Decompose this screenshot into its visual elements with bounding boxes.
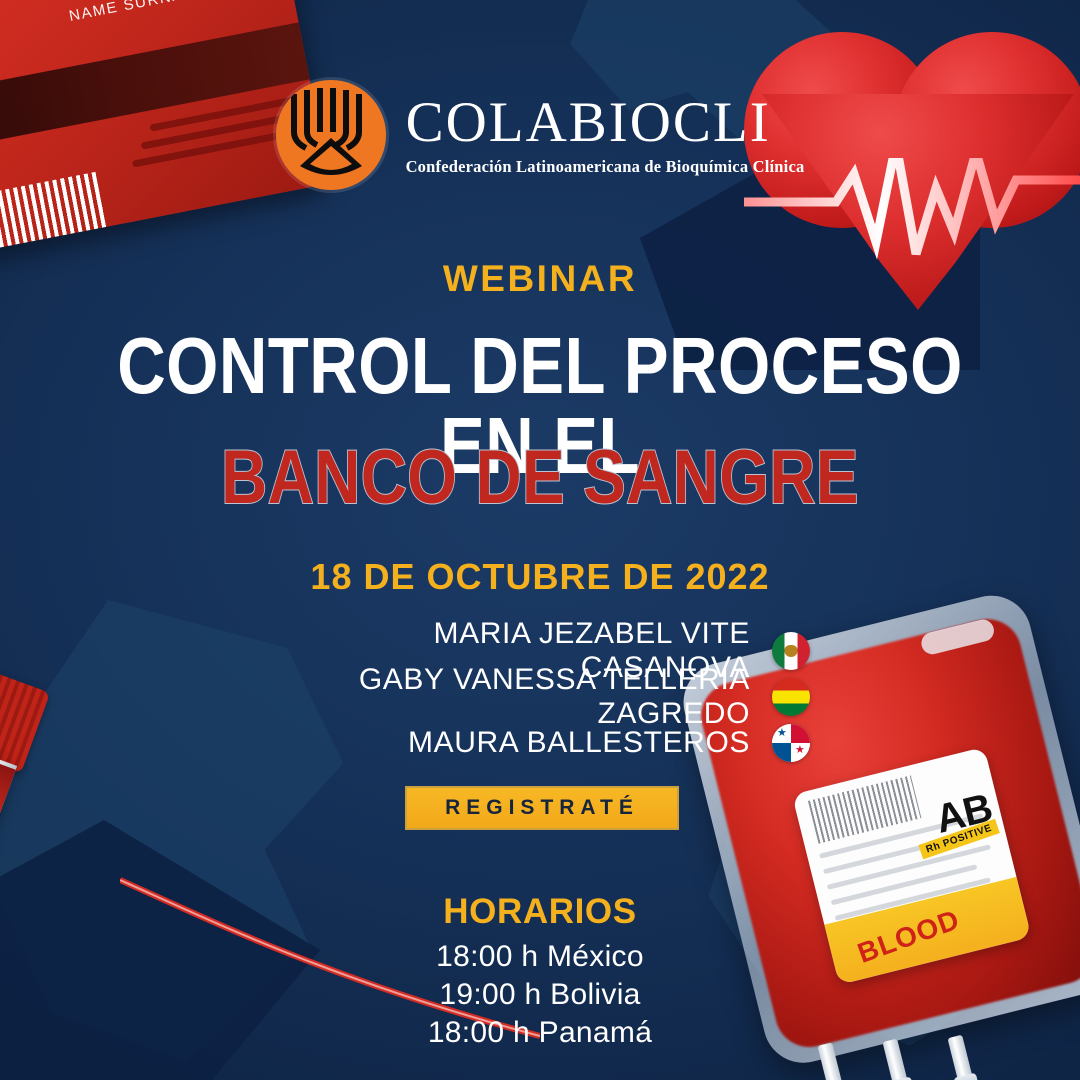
speaker-name: MAURA BALLESTEROS xyxy=(270,726,750,760)
bolivia-flag-icon xyxy=(772,678,810,716)
schedule-heading: HORARIOS xyxy=(0,892,1080,932)
speaker-list: MARIA JEZABEL VITE CASANOVA GABY VANESSA… xyxy=(0,628,1080,766)
speaker-row: GABY VANESSA TELLERIA ZAGREDO xyxy=(0,674,1080,720)
brand-name: COLABIOCLI xyxy=(406,94,771,151)
schedule-time: 18:00 h México xyxy=(0,938,1080,976)
event-title-line2: BANCO DE SANGRE xyxy=(86,440,993,516)
webinar-poster: Blood Donor Card NAME SURNAME xyxy=(0,0,1080,1080)
panama-flag-icon: ★★ xyxy=(772,724,810,762)
speaker-name: GABY VANESSA TELLERIA ZAGREDO xyxy=(270,663,750,731)
register-button[interactable]: REGISTRATÉ xyxy=(405,786,679,830)
brand-logo: COLABIOCLI Confederación Latinoamericana… xyxy=(0,80,1080,190)
schedule-times: 18:00 h México 19:00 h Bolivia 18:00 h P… xyxy=(0,938,1080,1051)
event-date: 18 DE OCTUBRE DE 2022 xyxy=(0,556,1080,598)
schedule-time: 18:00 h Panamá xyxy=(0,1014,1080,1052)
schedule-time: 19:00 h Bolivia xyxy=(0,976,1080,1014)
brand-tagline: Confederación Latinoamericana de Bioquím… xyxy=(406,157,805,177)
mexico-flag-icon xyxy=(772,632,810,670)
colabiocli-logo-icon xyxy=(276,80,386,190)
event-kicker: WEBINAR xyxy=(0,258,1080,300)
speaker-row: MAURA BALLESTEROS ★★ xyxy=(0,720,1080,766)
